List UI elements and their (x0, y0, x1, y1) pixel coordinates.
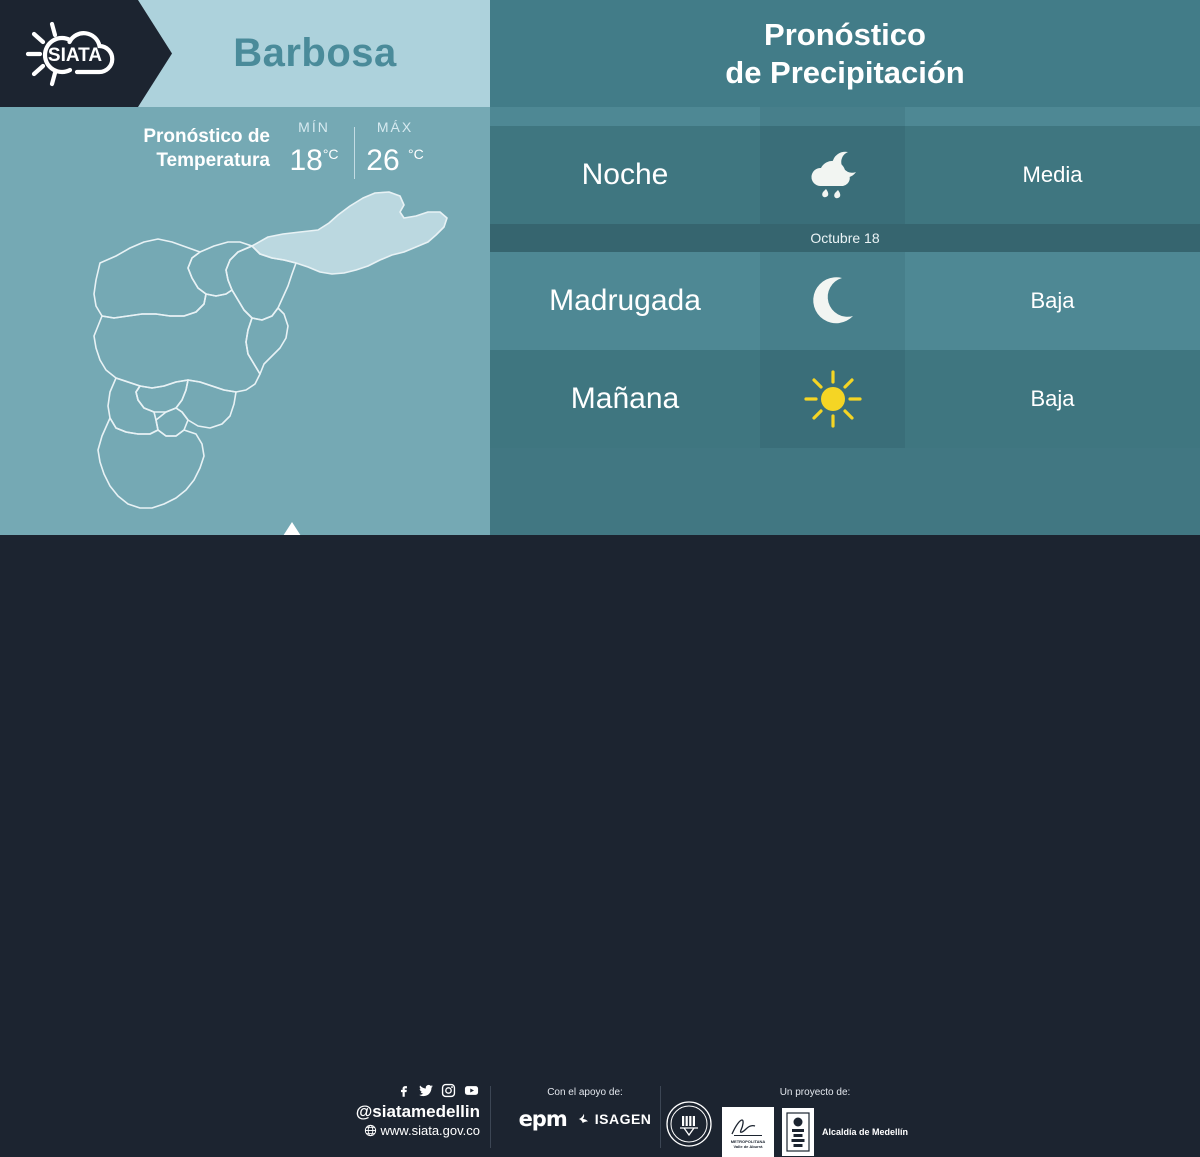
alcaldia-shield-icon (785, 1111, 811, 1153)
map-municipality-barbosa (252, 192, 447, 274)
forecast-row: Noche Media (490, 126, 1200, 224)
footer-divider-2 (660, 1086, 661, 1148)
forecast-period-cell: Madrugada (490, 252, 760, 350)
forecast-icon-cell (760, 350, 905, 448)
temperature-summary: Pronóstico de Temperatura MÍN 18°C MÁX 2… (0, 107, 490, 199)
forecast-probability-cell: Baja (905, 350, 1200, 448)
forecast-probability-cell: Baja (905, 252, 1200, 350)
temperature-max-unit: °C (408, 146, 424, 162)
valle-de-aburra-map: N (0, 190, 490, 535)
project-caption: Un proyecto de: (700, 1087, 930, 1098)
globe-icon (364, 1124, 377, 1137)
city-name: Barbosa (140, 0, 490, 107)
temperature-min-label: MÍN (298, 119, 330, 135)
forecast-icon-cell (760, 126, 905, 224)
temperature-min-unit: °C (323, 146, 339, 162)
forecast-period-label: Mañana (571, 382, 679, 416)
map-municipality-bello (94, 239, 206, 318)
forecast-probability-label: Media (1023, 162, 1083, 188)
moon-icon (802, 270, 864, 332)
area-signature-icon (728, 1115, 768, 1139)
forecast-icon-cell (760, 252, 905, 350)
alcaldia-emblem (782, 1108, 814, 1156)
forecast-row: Mañana Baja (490, 350, 1200, 448)
precipitation-title: Pronóstico de Precipitación (725, 16, 964, 92)
temperature-max-value: 26 °C (366, 137, 423, 178)
isagen-logo: ISAGEN (577, 1111, 652, 1127)
precipitation-panel: Pronóstico de Precipitación Octubre 17 T… (490, 0, 1200, 535)
forecast-probability-cell: Media (905, 126, 1200, 224)
forecast-probability-label: Baja (1030, 386, 1074, 412)
twitter-icon[interactable] (418, 1083, 434, 1098)
city-banner: Barbosa SIATA (0, 0, 490, 107)
footer: @siatamedellin www.siata.gov.co Con el a… (0, 535, 1200, 630)
date-band-day2: Octubre 18 (490, 224, 1200, 252)
forecast-probability-label: Baja (1030, 288, 1074, 314)
precipitation-title-line2: de Precipitación (725, 55, 964, 90)
map-municipality-edge-east (246, 308, 288, 374)
temperature-values: MÍN 18°C MÁX 26 °C (278, 119, 431, 179)
footer-social: @siatamedellin www.siata.gov.co (330, 1083, 480, 1139)
temperature-max: MÁX 26 °C (359, 119, 431, 178)
precipitation-header: Pronóstico de Precipitación (490, 0, 1200, 107)
isagen-label: ISAGEN (595, 1111, 652, 1127)
footer-divider-1 (490, 1086, 491, 1148)
moon-rain-cloud-icon (802, 144, 864, 206)
temperature-divider (354, 127, 355, 179)
map-municipality-envigado (176, 380, 236, 428)
temperature-panel: Barbosa SIATA Pronó (0, 0, 490, 535)
support-caption: Con el apoyo de: (500, 1087, 670, 1098)
temperature-title: Pronóstico de Temperatura (75, 125, 270, 173)
siata-logo: SIATA (0, 0, 172, 107)
sun-icon (802, 368, 864, 430)
isagen-mark-icon (577, 1112, 592, 1126)
youtube-icon[interactable] (463, 1083, 480, 1098)
infographic-root: Barbosa SIATA Pronó (0, 0, 1200, 630)
temperature-min: MÍN 18°C (278, 119, 350, 178)
footer-project: Un proyecto de: METROPOLITANA Valle de A… (700, 1087, 930, 1157)
precipitation-title-line1: Pronóstico (764, 17, 926, 52)
map-municipality-medellin (94, 290, 260, 392)
forecast-period-label: Noche (582, 158, 669, 192)
siata-logo-text: SIATA (48, 45, 102, 66)
area-metropolitana-logo: METROPOLITANA Valle de Aburrá (722, 1107, 774, 1157)
forecast-period-cell: Mañana (490, 350, 760, 448)
support-logos: epm ISAGEN (500, 1107, 670, 1131)
social-handle[interactable]: @siatamedellin (330, 1101, 480, 1122)
temperature-title-line2: Temperatura (75, 149, 270, 173)
forecast-row: Madrugada Baja (490, 252, 1200, 350)
map-municipality-la-estrella (108, 378, 158, 434)
temperature-max-label: MÁX (377, 119, 413, 135)
epm-logo: epm (519, 1107, 567, 1131)
sun-cloud-icon: SIATA (14, 14, 134, 94)
footer-website-label: www.siata.gov.co (381, 1122, 480, 1139)
alcaldia-label: Alcaldía de Medellín (822, 1127, 908, 1137)
amva-sub2: Valle de Aburrá (733, 1144, 762, 1149)
forecast-period-label: Madrugada (549, 284, 701, 318)
footer-website[interactable]: www.siata.gov.co (330, 1122, 480, 1139)
project-logos: METROPOLITANA Valle de Aburrá Alcaldía d… (700, 1107, 930, 1157)
footer-support: Con el apoyo de: epm ISAGEN (500, 1087, 670, 1131)
facebook-icon[interactable] (396, 1083, 411, 1098)
map-svg (0, 190, 490, 535)
temperature-min-value: 18°C (289, 137, 338, 178)
instagram-icon[interactable] (441, 1083, 456, 1098)
social-icons (330, 1083, 480, 1098)
temperature-title-line1: Pronóstico de (75, 125, 270, 149)
forecast-period-cell: Noche (490, 126, 760, 224)
map-municipality-caldas (98, 418, 204, 508)
